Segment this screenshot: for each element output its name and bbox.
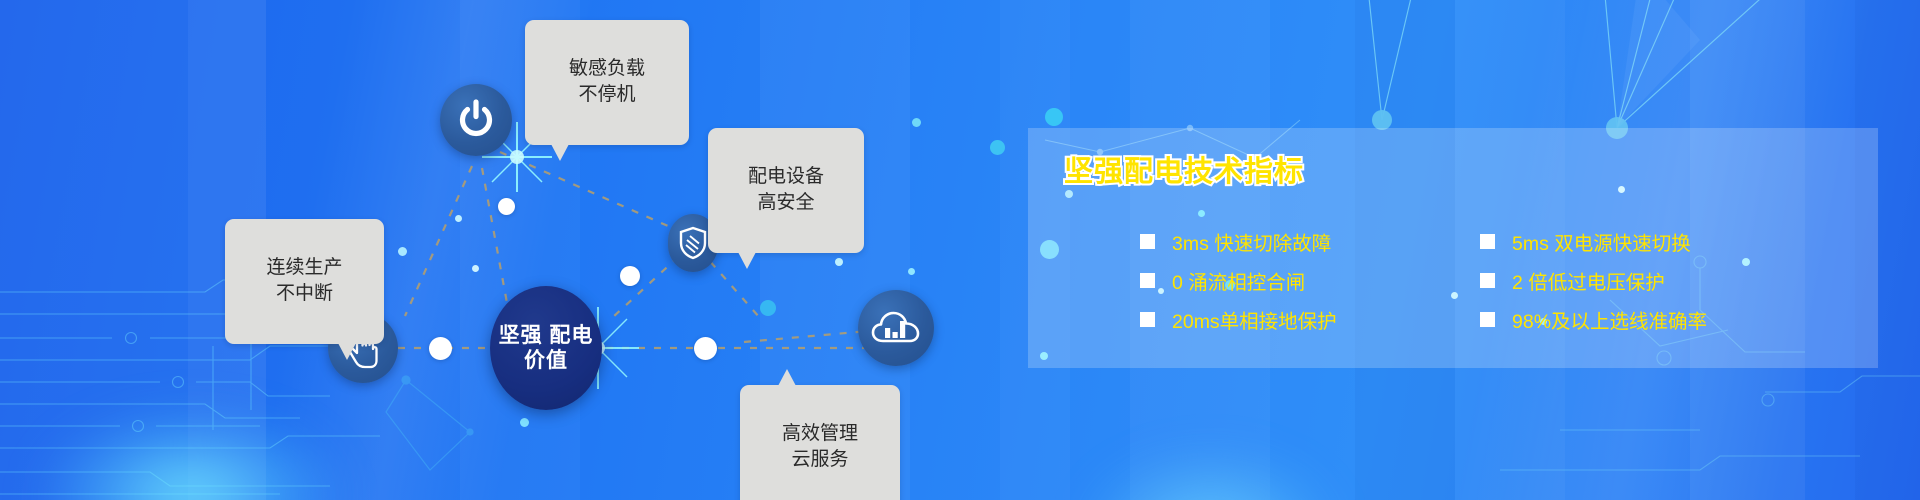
- callout-text: 敏感负载 不停机: [569, 58, 645, 104]
- decor-dot: [835, 258, 843, 266]
- decor-dot: [472, 265, 479, 272]
- spec-label: 20ms单相接地保护: [1172, 305, 1337, 334]
- link-dot: [429, 337, 452, 360]
- decor-dot: [1045, 108, 1063, 126]
- callout-tail: [778, 369, 796, 386]
- cloud-chart-icon: [871, 308, 921, 348]
- spec-list: 3ms 快速切除故障 5ms 双电源快速切换 0 涌流相控合闸 2 倍低过电压保…: [1140, 222, 1696, 339]
- link-dot: [498, 198, 515, 215]
- center-value-node[interactable]: 坚强 配电 价值: [490, 286, 602, 410]
- spec-label: 98%及以上选线准确率: [1512, 305, 1707, 334]
- decor-dot: [398, 247, 407, 256]
- spec-item[interactable]: 20ms单相接地保护: [1140, 300, 1418, 339]
- callout-cloud-management[interactable]: 高效管理 云服务: [740, 385, 900, 500]
- banner-canvas: 坚强 配电 价值 敏感负载 不停机 配电设备 高安全 连续生产 不中断 高效管理…: [0, 0, 1920, 500]
- link-dot: [694, 337, 717, 360]
- bottom-glow: [1080, 450, 1340, 500]
- spec-item[interactable]: 0 涌流相控合闸: [1140, 261, 1418, 300]
- bullet-square-icon: [1140, 312, 1155, 327]
- callout-text: 高效管理 云服务: [782, 423, 858, 469]
- power-button-icon: [454, 98, 498, 142]
- spec-item[interactable]: 98%及以上选线准确率: [1418, 300, 1696, 339]
- spec-item[interactable]: 3ms 快速切除故障: [1140, 222, 1418, 261]
- bullet-square-icon: [1480, 273, 1495, 288]
- bullet-square-icon: [1480, 234, 1495, 249]
- decor-dot: [455, 215, 462, 222]
- bottom-glow: [40, 410, 340, 500]
- callout-continuous-production[interactable]: 连续生产 不中断: [225, 219, 384, 344]
- decor-dot: [908, 268, 915, 275]
- spec-label: 3ms 快速切除故障: [1172, 227, 1331, 256]
- callout-tail: [551, 144, 569, 161]
- node-cloud-service[interactable]: [858, 290, 934, 366]
- center-value-label: 坚强 配电 价值: [490, 323, 602, 373]
- callout-text: 配电设备 高安全: [748, 166, 824, 212]
- spec-label: 5ms 双电源快速切换: [1512, 227, 1691, 256]
- decor-dot: [760, 300, 776, 316]
- callout-text: 连续生产 不中断: [266, 257, 342, 303]
- bullet-square-icon: [1140, 273, 1155, 288]
- spec-item[interactable]: 5ms 双电源快速切换: [1418, 222, 1696, 261]
- shield-check-icon: [678, 226, 708, 260]
- spec-panel-title: 坚强配电技术指标: [1064, 148, 1304, 190]
- node-power-button[interactable]: [440, 84, 512, 156]
- spec-label: 2 倍低过电压保护: [1512, 266, 1665, 295]
- decor-dot: [912, 118, 921, 127]
- bullet-square-icon: [1480, 312, 1495, 327]
- decor-dot: [990, 140, 1005, 155]
- callout-tail: [738, 252, 756, 269]
- callout-sensitive-load[interactable]: 敏感负载 不停机: [525, 20, 689, 145]
- callout-equipment-safety[interactable]: 配电设备 高安全: [708, 128, 864, 253]
- spec-label: 0 涌流相控合闸: [1172, 266, 1305, 295]
- link-dot: [620, 266, 640, 286]
- bg-band: [0, 0, 188, 500]
- spec-item[interactable]: 2 倍低过电压保护: [1418, 261, 1696, 300]
- decor-dot: [520, 418, 529, 427]
- callout-tail: [338, 343, 356, 360]
- bullet-square-icon: [1140, 234, 1155, 249]
